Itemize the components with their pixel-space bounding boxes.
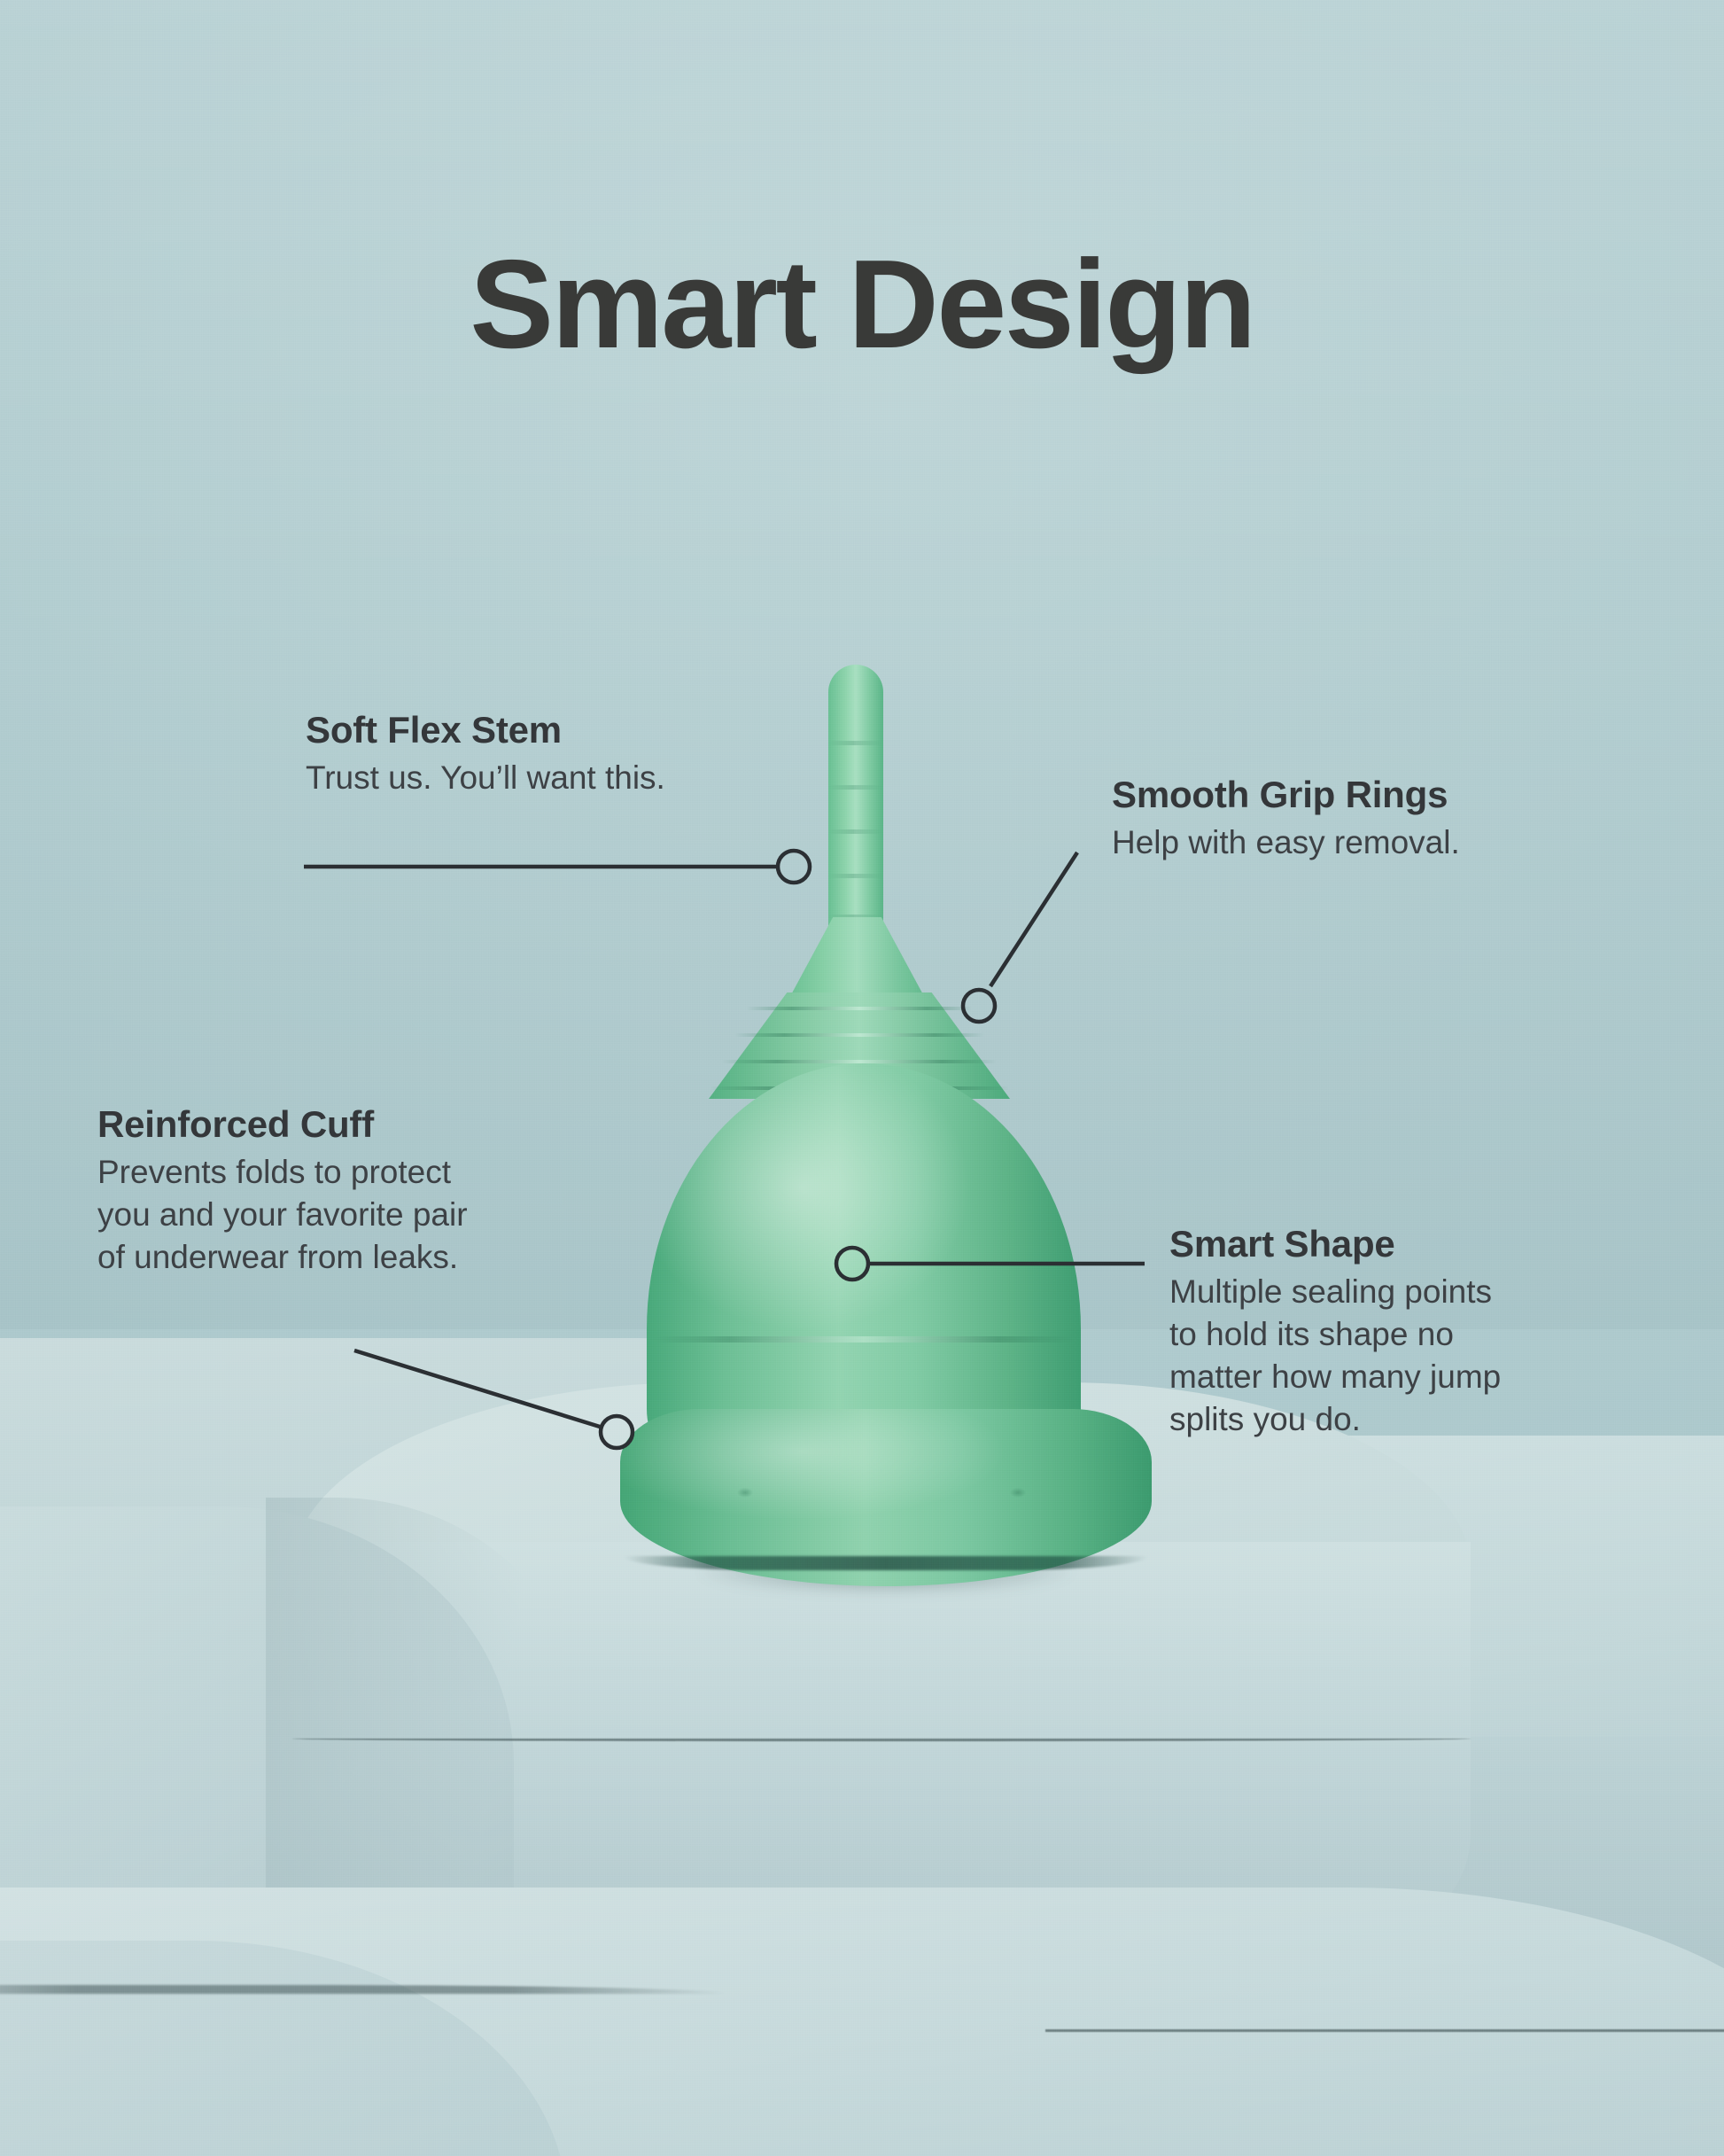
callout-title: Reinforced Cuff: [97, 1103, 468, 1146]
callout-description: Prevents folds to protect you and your f…: [97, 1151, 468, 1279]
callout-line: to hold its shape no: [1169, 1313, 1501, 1356]
product-infographic: Smart Design Soft Flex Stem Trust us. Yo…: [0, 0, 1724, 2156]
callout-line: Help with easy removal.: [1112, 821, 1460, 864]
callout-title: Smart Shape: [1169, 1223, 1501, 1265]
callout-description: Multiple sealing points to hold its shap…: [1169, 1271, 1501, 1441]
callout-description: Trust us. You’ll want this.: [306, 757, 665, 799]
callout-reinforced-cuff: Reinforced Cuff Prevents folds to protec…: [97, 1103, 468, 1279]
callout-line: of underwear from leaks.: [97, 1236, 468, 1279]
callout-smooth-grip-rings: Smooth Grip Rings Help with easy removal…: [1112, 774, 1460, 864]
callout-line: Trust us. You’ll want this.: [306, 757, 665, 799]
callout-line: Prevents folds to protect: [97, 1151, 468, 1194]
callout-title: Soft Flex Stem: [306, 709, 665, 751]
page-title: Smart Design: [0, 232, 1724, 377]
callout-line: matter how many jump: [1169, 1356, 1501, 1398]
callout-line: splits you do.: [1169, 1398, 1501, 1441]
callout-soft-flex-stem: Soft Flex Stem Trust us. You’ll want thi…: [306, 709, 665, 799]
callout-line: Multiple sealing points: [1169, 1271, 1501, 1313]
callout-smart-shape: Smart Shape Multiple sealing points to h…: [1169, 1223, 1501, 1441]
callout-line: you and your favorite pair: [97, 1194, 468, 1236]
callout-title: Smooth Grip Rings: [1112, 774, 1460, 816]
callout-description: Help with easy removal.: [1112, 821, 1460, 864]
